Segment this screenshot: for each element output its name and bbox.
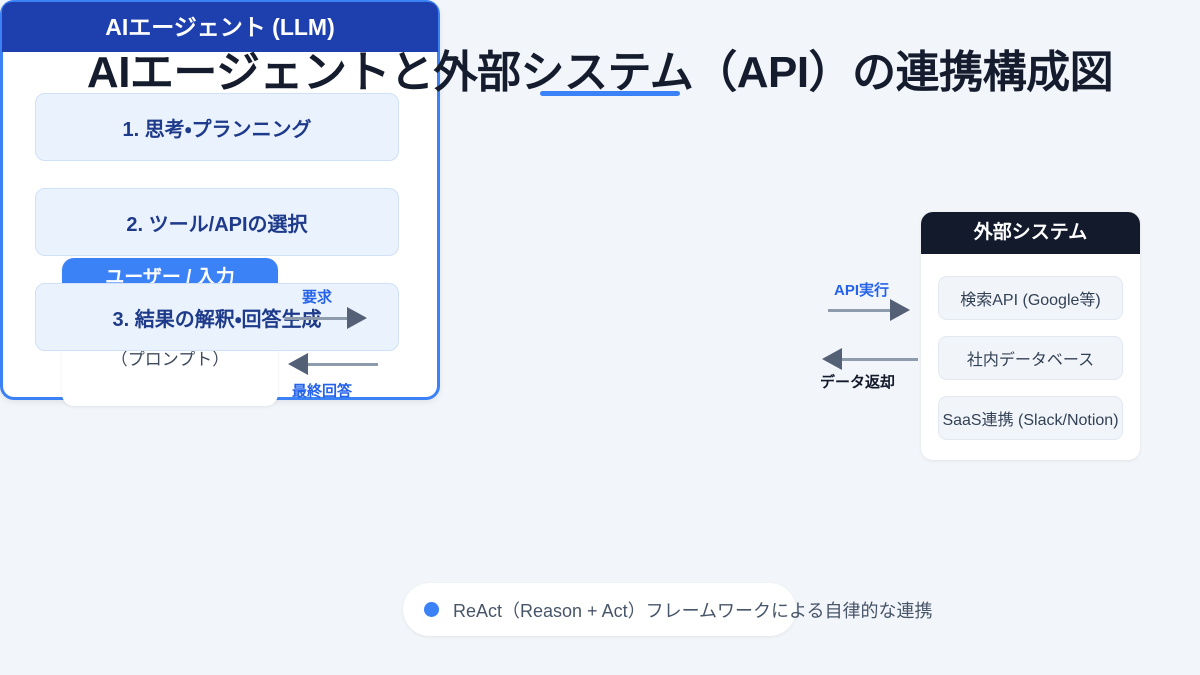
title-underline	[540, 91, 680, 96]
agent-step-thinking[interactable]: 1. 思考・プランニング	[35, 93, 399, 161]
external-system-search-api[interactable]: 検索API (Google等)	[938, 276, 1123, 320]
external-systems-card: 外部システム 検索API (Google等) 社内データベース SaaS連携 (…	[921, 212, 1140, 460]
data-return-arrow-label: データ返却	[820, 371, 895, 392]
data-return-arrow-line	[840, 358, 918, 361]
data-return-arrow-head-icon	[822, 348, 842, 370]
final-answer-arrow-line	[300, 363, 378, 366]
request-arrow-label: 要求	[302, 286, 332, 307]
api-call-arrow-label: API実行	[834, 279, 889, 300]
final-answer-arrow-head-icon	[288, 353, 308, 375]
footer-note-text: ReAct（Reason + Act）フレームワークによる自律的な連携	[453, 597, 933, 623]
external-systems-card-header: 外部システム	[921, 212, 1140, 254]
agent-step-tool-selection[interactable]: 2. ツール/APIの選択	[35, 188, 399, 256]
diagram-canvas: AIエージェントと外部システム（API）の連携構成図 ユーザー / 入力 自然言…	[0, 0, 1200, 675]
external-system-internal-database[interactable]: 社内データベース	[938, 336, 1123, 380]
footer-note: ReAct（Reason + Act）フレームワークによる自律的な連携	[424, 583, 933, 636]
final-answer-arrow-label: 最終回答	[292, 380, 352, 401]
bullet-dot-icon	[424, 602, 439, 617]
api-call-arrow-head-icon	[890, 299, 910, 321]
request-arrow-head-icon	[347, 307, 367, 329]
external-system-saas-integration[interactable]: SaaS連携 (Slack/Notion)	[938, 396, 1123, 440]
